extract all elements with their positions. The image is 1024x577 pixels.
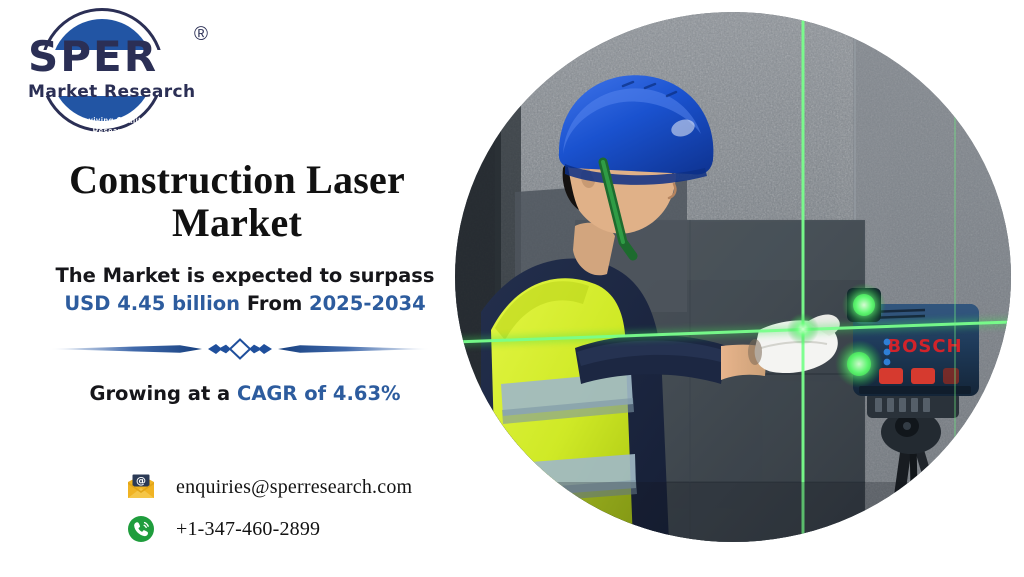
construction-laser-photo: BOSCH <box>455 12 1011 542</box>
infographic-canvas: Reviving Quality Research SPER Market Re… <box>0 0 1024 577</box>
logo-tagline-arc: Reviving Quality Research <box>62 111 162 137</box>
page-title: Construction Laser Market <box>22 158 452 244</box>
cagr-prefix: Growing at a <box>89 382 237 405</box>
statement-middle: From <box>240 292 309 315</box>
svg-text:@: @ <box>136 476 146 487</box>
logo-tagline-text: Reviving Quality Research <box>62 111 162 136</box>
forecast-period: 2025-2034 <box>309 292 426 315</box>
page-title-line1: Construction Laser <box>22 158 452 201</box>
contact-row-phone[interactable]: +1-347-460-2899 <box>124 508 464 550</box>
phone-call-icon <box>124 514 158 544</box>
market-value: 4.45 billion <box>117 292 240 315</box>
registered-trademark-icon: ® <box>194 24 208 46</box>
statement-prefix: The Market is expected to surpass <box>55 264 434 287</box>
page-title-line2: Market <box>22 201 452 244</box>
logo-wordmark: SPER <box>28 36 208 78</box>
svg-text:BOSCH: BOSCH <box>887 336 962 357</box>
logo-subtitle: Market Research <box>28 84 218 101</box>
email-address: enquiries@sperresearch.com <box>176 476 412 499</box>
market-value-statement: The Market is expected to surpass USD 4.… <box>36 262 454 319</box>
envelope-at-icon: @ <box>124 472 158 502</box>
currency-label: USD <box>64 292 110 315</box>
cagr-label: CAGR of <box>237 382 333 405</box>
cagr-statement: Growing at a CAGR of 4.63% <box>36 382 454 405</box>
phone-number: +1-347-460-2899 <box>176 518 320 541</box>
ornamental-divider <box>40 336 440 362</box>
cagr-value: 4.63% <box>333 382 401 405</box>
contact-row-email[interactable]: @ enquiries@sperresearch.com <box>124 466 464 508</box>
contact-block: @ enquiries@sperresearch.com +1-347-460-… <box>124 466 464 550</box>
sper-logo: Reviving Quality Research SPER Market Re… <box>18 6 238 136</box>
